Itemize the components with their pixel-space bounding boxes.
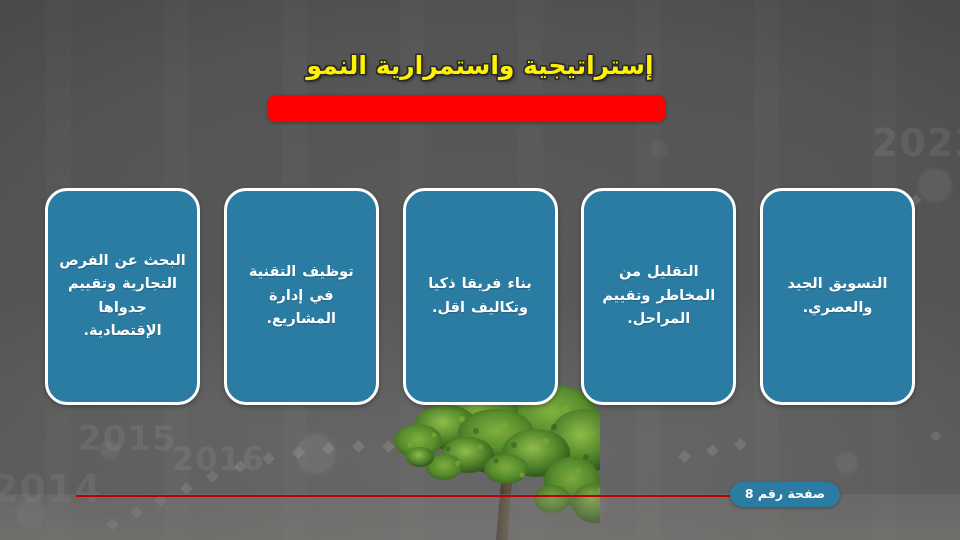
card-technology[interactable]: توظيف التقنية في إدارة المشاريع. <box>224 188 379 405</box>
card-technology-label: توظيف التقنية في إدارة المشاريع. <box>236 261 367 331</box>
card-risk-label: التقليل من المخاطر وتقييم المراحل. <box>593 261 724 331</box>
page-number-label: صفحة رقم 8 <box>745 488 825 501</box>
card-marketing[interactable]: التسويق الجيد والعصري. <box>760 188 915 405</box>
card-marketing-label: التسويق الجيد والعصري. <box>772 273 903 320</box>
page-number-badge[interactable]: صفحة رقم 8 <box>730 482 840 507</box>
card-team[interactable]: بناء فريقا ذكيا وتكاليف اقل. <box>403 188 558 405</box>
footer-divider <box>76 495 740 497</box>
card-opportunity[interactable]: البحث عن الفرص التجارية وتقييم جدواها ال… <box>45 188 200 405</box>
page-title-text: إستراتيجية واستمرارية النمو <box>0 52 960 81</box>
card-team-label: بناء فريقا ذكيا وتكاليف اقل. <box>415 273 546 320</box>
slide-canvas: 2014 2015 2016 2023 <box>0 0 960 540</box>
card-opportunity-label: البحث عن الفرص التجارية وتقييم جدواها ال… <box>57 250 188 344</box>
card-risk[interactable]: التقليل من المخاطر وتقييم المراحل. <box>581 188 736 405</box>
page-title: إستراتيجية واستمرارية النمو <box>0 52 960 81</box>
strategy-cards-row: التسويق الجيد والعصري. التقليل من المخاط… <box>45 188 915 405</box>
title-underline-bar <box>268 95 665 122</box>
